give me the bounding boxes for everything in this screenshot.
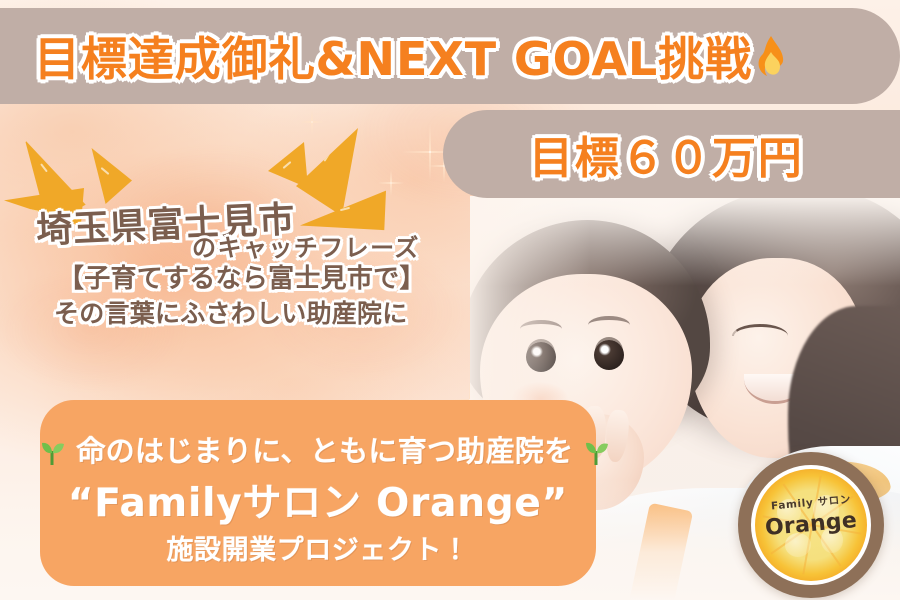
achievement-banner: 目標達成御礼&NEXT GOAL挑戦 xyxy=(0,8,900,104)
photo-baby-eye xyxy=(594,340,624,370)
project-card: 命のはじまりに、ともに育つ助産院を “Familyサロン Orange” 施設開… xyxy=(40,400,596,586)
banner-title: 目標達成御礼&NEXT GOAL挑戦 xyxy=(34,23,752,89)
orange-slice-icon xyxy=(755,469,867,581)
logo-badge[interactable]: Family サロン Orange xyxy=(738,452,884,598)
project-tagline: 命のはじまりに、ともに育つ助産院を xyxy=(40,428,596,470)
catchphrase-quote: 【子育てするなら富士見市で】 xyxy=(58,258,426,295)
logo-inner-circle: Family サロン Orange xyxy=(751,465,871,585)
sprout-icon xyxy=(584,438,610,466)
goal-amount-banner: 目標６０万円 xyxy=(443,110,900,198)
catchphrase-subtitle: その言葉にふさわしい助産院に xyxy=(54,294,408,330)
project-subtitle: 施設開業プロジェクト！ xyxy=(40,528,596,567)
fire-icon xyxy=(750,34,792,78)
banner-canvas: 目標達成御礼&NEXT GOAL挑戦 目標６０万円 埼玉県富士見市 のキャッチフ… xyxy=(0,0,900,600)
goal-amount-text: 目標６０万円 xyxy=(529,122,804,186)
project-brand-name: “Familyサロン Orange” xyxy=(40,472,596,528)
project-tagline-text: 命のはじまりに、ともに育つ助産院を xyxy=(76,434,573,468)
sprout-icon xyxy=(40,438,66,466)
